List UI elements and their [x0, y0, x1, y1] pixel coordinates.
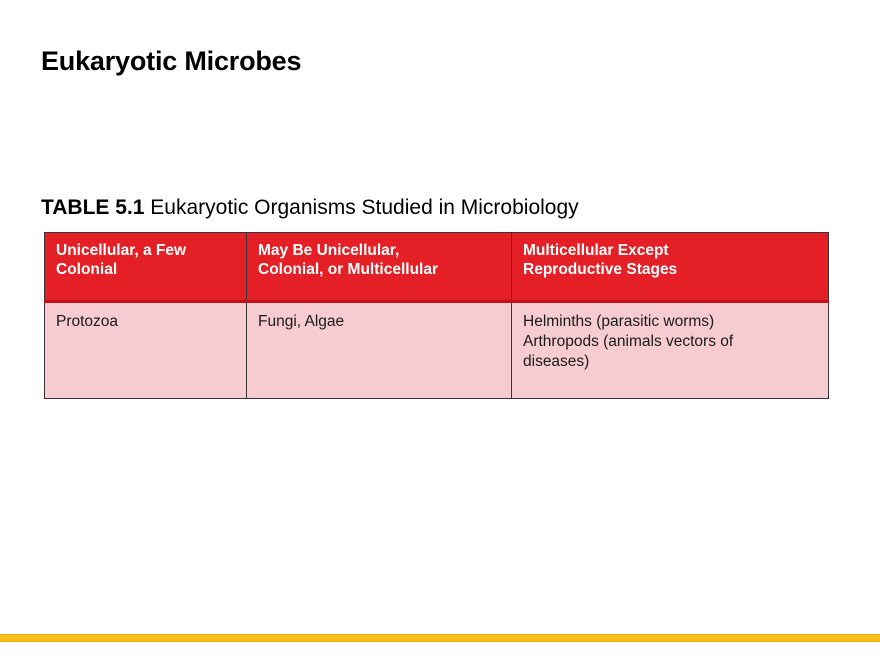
cell-unicellular-line1: Protozoa — [56, 312, 236, 332]
bottom-accent-bar — [0, 634, 880, 642]
cell-multicellular-line1: Helminths (parasitic worms) — [523, 312, 818, 332]
slide: Eukaryotic Microbes TABLE 5.1 Eukaryotic… — [0, 0, 880, 660]
table-caption-label: TABLE 5.1 — [41, 196, 144, 219]
column-header-unicellular-line1: Unicellular, a Few — [56, 242, 236, 261]
cell-may-be-unicellular-organisms: Fungi, Algae — [247, 302, 512, 399]
cell-multicellular-line3: diseases) — [523, 352, 818, 372]
column-header-may-be-unicellular-line1: May Be Unicellular, — [258, 242, 501, 261]
table-row: Protozoa Fungi, Algae Helminths (parasit… — [45, 302, 829, 399]
cell-multicellular-line2: Arthropods (animals vectors of — [523, 332, 818, 352]
column-header-multicellular: Multicellular Except Reproductive Stages — [512, 233, 829, 302]
column-header-multicellular-line1: Multicellular Except — [523, 242, 818, 261]
cell-may-be-unicellular-line1: Fungi, Algae — [258, 312, 501, 332]
cell-unicellular-organisms: Protozoa — [45, 302, 247, 399]
page-title: Eukaryotic Microbes — [41, 46, 301, 77]
column-header-multicellular-line2: Reproductive Stages — [523, 261, 818, 280]
table-header-row: Unicellular, a Few Colonial May Be Unice… — [45, 233, 829, 302]
table-caption-text: Eukaryotic Organisms Studied in Microbio… — [144, 196, 578, 219]
eukaryotic-organisms-table: Unicellular, a Few Colonial May Be Unice… — [44, 232, 829, 399]
column-header-may-be-unicellular-line2: Colonial, or Multicellular — [258, 261, 501, 280]
column-header-unicellular-line2: Colonial — [56, 261, 236, 280]
column-header-unicellular: Unicellular, a Few Colonial — [45, 233, 247, 302]
cell-multicellular-organisms: Helminths (parasitic worms) Arthropods (… — [512, 302, 829, 399]
column-header-may-be-unicellular: May Be Unicellular, Colonial, or Multice… — [247, 233, 512, 302]
table-caption: TABLE 5.1 Eukaryotic Organisms Studied i… — [41, 196, 579, 220]
